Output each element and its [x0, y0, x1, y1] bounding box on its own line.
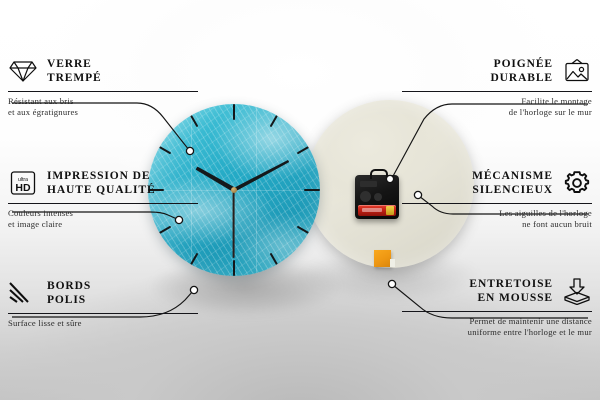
feature-mecanisme-silencieux[interactable]: MÉCANISME SILENCIEUX Les aiguilles de l'…	[402, 168, 592, 231]
feature-rule	[8, 91, 198, 92]
diamond-icon	[8, 56, 38, 86]
desc-line-1: Résistant aux bris	[8, 96, 74, 106]
title-line-2: EN MOUSSE	[477, 292, 553, 304]
mechanism-dial-1	[360, 191, 371, 202]
svg-text:HD: HD	[15, 182, 31, 194]
feature-title: MÉCANISME SILENCIEUX	[472, 169, 553, 197]
connector-dot-entretoise	[388, 280, 395, 287]
feature-poignee-durable[interactable]: POIGNÉE DURABLE Facilite le montage de l…	[402, 56, 592, 119]
desc-line-1: Les aiguilles de l'horloge	[499, 208, 592, 218]
feature-rule	[402, 91, 592, 92]
feature-header: BORDS POLIS	[8, 278, 198, 308]
feature-entretoise-en-mousse[interactable]: ENTRETOISE EN MOUSSE Permet de maintenir…	[402, 276, 592, 339]
feature-header: POIGNÉE DURABLE	[402, 56, 592, 86]
feature-header: ultra HD IMPRESSION DE HAUTE QUALITÉ	[8, 168, 198, 198]
clock-mechanism	[355, 175, 399, 219]
title-line-1: BORDS	[47, 280, 91, 292]
title-line-2: HAUTE QUALITÉ	[47, 184, 156, 196]
hands-center-cap	[231, 187, 237, 193]
desc-line-1: Surface lisse et sûre	[8, 318, 82, 328]
feature-description: Facilite le montage de l'horloge sur le …	[402, 96, 592, 119]
title-line-1: POIGNÉE	[494, 58, 553, 70]
feature-title: VERRE TREMPÉ	[47, 57, 102, 85]
mechanism-dial-2	[374, 193, 382, 201]
feature-description: Surface lisse et sûre	[8, 318, 198, 329]
feature-rule	[402, 311, 592, 312]
feature-rule	[402, 203, 592, 204]
desc-line-2: uniforme entre l'horloge et le mur	[468, 327, 592, 337]
feature-title: POIGNÉE DURABLE	[490, 57, 553, 85]
feature-description: Résistant aux bris et aux égratignures	[8, 96, 198, 119]
ultra-hd-icon: ultra HD	[8, 168, 38, 198]
arrow-onto-pad-icon	[562, 276, 592, 306]
desc-line-2: et image claire	[8, 219, 62, 229]
second-hand	[233, 190, 235, 258]
gear-icon	[562, 168, 592, 198]
feature-title: BORDS POLIS	[47, 279, 91, 307]
title-line-2: SILENCIEUX	[472, 184, 553, 196]
tick-12	[233, 104, 235, 190]
desc-line-2: ne font aucun bruit	[522, 219, 592, 229]
title-line-2: TREMPÉ	[47, 72, 102, 84]
feature-title: ENTRETOISE EN MOUSSE	[469, 277, 553, 305]
desc-line-2: et aux égratignures	[8, 107, 78, 117]
title-line-1: MÉCANISME	[472, 170, 553, 182]
feature-rule	[8, 203, 198, 204]
feature-description: Couleurs intenses et image claire	[8, 208, 198, 231]
feature-description: Les aiguilles de l'horloge ne font aucun…	[402, 208, 592, 231]
feature-description: Permet de maintenir une distance uniform…	[402, 316, 592, 339]
title-line-1: IMPRESSION DE	[47, 170, 150, 182]
title-line-1: VERRE	[47, 58, 92, 70]
feature-impression-haute-qualite[interactable]: ultra HD IMPRESSION DE HAUTE QUALITÉ Cou…	[8, 168, 198, 231]
hanging-picture-frame-icon	[562, 56, 592, 86]
feature-header: MÉCANISME SILENCIEUX	[402, 168, 592, 198]
desc-line-2: de l'horloge sur le mur	[509, 107, 592, 117]
feature-title: IMPRESSION DE HAUTE QUALITÉ	[47, 169, 156, 197]
title-line-1: ENTRETOISE	[469, 278, 553, 290]
feature-header: ENTRETOISE EN MOUSSE	[402, 276, 592, 306]
battery-label	[362, 208, 382, 212]
diagonal-lines-icon	[8, 278, 38, 308]
product-infographic: VERRE TREMPÉ Résistant aux bris et aux é…	[0, 0, 600, 400]
tick-3	[234, 189, 320, 191]
desc-line-1: Facilite le montage	[521, 96, 592, 106]
feature-header: VERRE TREMPÉ	[8, 56, 198, 86]
desc-line-1: Permet de maintenir une distance	[469, 316, 592, 326]
foam-spacer-fold	[390, 259, 395, 267]
mechanism-hanger-tab	[370, 169, 388, 179]
feature-bords-polis[interactable]: BORDS POLIS Surface lisse et sûre	[8, 278, 198, 329]
feature-rule	[8, 313, 198, 314]
title-line-2: DURABLE	[490, 72, 553, 84]
foam-spacer	[374, 250, 391, 267]
feature-verre-trempe[interactable]: VERRE TREMPÉ Résistant aux bris et aux é…	[8, 56, 198, 119]
battery-positive-terminal	[386, 206, 394, 215]
desc-line-1: Couleurs intenses	[8, 208, 73, 218]
battery	[358, 205, 396, 216]
mechanism-slot	[360, 181, 377, 187]
title-line-2: POLIS	[47, 294, 86, 306]
